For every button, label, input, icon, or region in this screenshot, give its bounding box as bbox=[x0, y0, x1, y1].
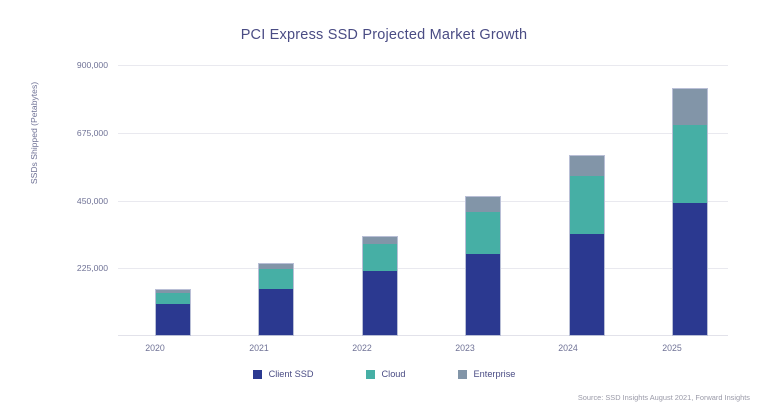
legend-swatch-cloud-icon bbox=[366, 370, 375, 379]
bar-segment-client-2025[interactable] bbox=[672, 203, 708, 336]
gridline-450000 bbox=[118, 201, 728, 202]
x-tick-label-2023: 2023 bbox=[430, 343, 500, 353]
y-tick-label-675000: 675,000 bbox=[40, 128, 108, 138]
bar-stack-2021[interactable] bbox=[258, 263, 294, 336]
bar-stack-2024[interactable] bbox=[569, 155, 605, 336]
bar-segment-client-2021[interactable] bbox=[258, 289, 294, 336]
bar-segment-cloud-2024[interactable] bbox=[569, 176, 605, 235]
x-tick-label-2024: 2024 bbox=[533, 343, 603, 353]
y-tick-label-450000: 450,000 bbox=[40, 196, 108, 206]
x-tick-label-2022: 2022 bbox=[327, 343, 397, 353]
bar-stack-2025[interactable] bbox=[672, 88, 708, 336]
gridline-900000 bbox=[118, 65, 728, 66]
bar-segment-client-2024[interactable] bbox=[569, 234, 605, 336]
bar-stack-2020[interactable] bbox=[155, 289, 191, 336]
y-tick-label-900000: 900,000 bbox=[40, 60, 108, 70]
plot-area bbox=[118, 65, 728, 336]
bar-segment-enterprise-2024[interactable] bbox=[569, 155, 605, 176]
bar-segment-cloud-2021[interactable] bbox=[258, 269, 294, 289]
legend-swatch-client-ssd-icon bbox=[253, 370, 262, 379]
legend-item-client-ssd[interactable]: Client SSD bbox=[253, 369, 314, 379]
x-tick-label-2021: 2021 bbox=[224, 343, 294, 353]
legend-label-client-ssd: Client SSD bbox=[269, 369, 314, 379]
y-axis-title: SSDs Shipped (Petabytes) bbox=[29, 53, 39, 213]
chart-legend: Client SSD Cloud Enterprise bbox=[0, 369, 768, 379]
bar-segment-enterprise-2022[interactable] bbox=[362, 236, 398, 244]
legend-label-cloud: Cloud bbox=[382, 369, 406, 379]
bar-segment-client-2020[interactable] bbox=[155, 304, 191, 336]
gridline-675000 bbox=[118, 133, 728, 134]
chart-figure: PCI Express SSD Projected Market Growth … bbox=[0, 0, 768, 414]
x-tick-label-2025: 2025 bbox=[637, 343, 707, 353]
y-tick-label-225000: 225,000 bbox=[40, 263, 108, 273]
legend-swatch-enterprise-icon bbox=[458, 370, 467, 379]
bar-stack-2022[interactable] bbox=[362, 236, 398, 336]
gridline-axis-baseline bbox=[118, 335, 728, 336]
bar-segment-cloud-2025[interactable] bbox=[672, 125, 708, 204]
bar-segment-enterprise-2023[interactable] bbox=[465, 196, 501, 212]
legend-label-enterprise: Enterprise bbox=[474, 369, 516, 379]
x-tick-label-2020: 2020 bbox=[120, 343, 190, 353]
bar-segment-enterprise-2025[interactable] bbox=[672, 88, 708, 124]
bar-segment-cloud-2023[interactable] bbox=[465, 212, 501, 253]
bar-segment-client-2022[interactable] bbox=[362, 271, 398, 336]
bar-segment-cloud-2020[interactable] bbox=[155, 293, 191, 304]
bar-segment-client-2023[interactable] bbox=[465, 254, 501, 337]
chart-title: PCI Express SSD Projected Market Growth bbox=[0, 27, 768, 43]
bar-segment-cloud-2022[interactable] bbox=[362, 244, 398, 271]
legend-item-enterprise[interactable]: Enterprise bbox=[458, 369, 516, 379]
bar-stack-2023[interactable] bbox=[465, 196, 501, 336]
legend-item-cloud[interactable]: Cloud bbox=[366, 369, 406, 379]
source-note: Source: SSD Insights August 2021, Forwar… bbox=[578, 393, 750, 402]
gridline-225000 bbox=[118, 268, 728, 269]
